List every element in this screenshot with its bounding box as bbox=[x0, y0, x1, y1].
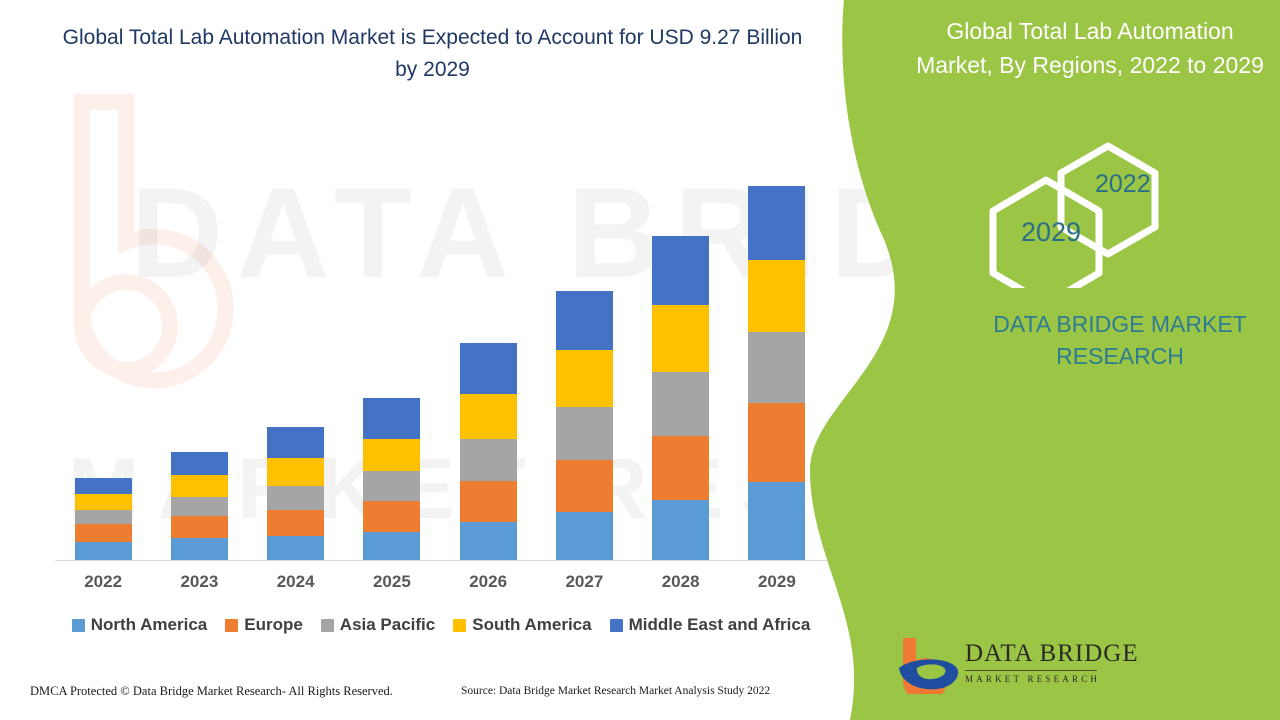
bar-segment bbox=[652, 372, 709, 436]
legend-label: North America bbox=[91, 615, 208, 635]
legend-label: Middle East and Africa bbox=[629, 615, 811, 635]
x-axis-label-2025: 2025 bbox=[344, 572, 440, 592]
stacked-bar-2029[interactable] bbox=[748, 186, 805, 560]
bar-segment bbox=[267, 536, 324, 560]
bar-segment bbox=[748, 482, 805, 560]
bar-segment bbox=[171, 497, 228, 516]
footer-copyright: DMCA Protected © Data Bridge Market Rese… bbox=[30, 684, 393, 699]
bar-segment bbox=[460, 343, 517, 394]
bar-segment bbox=[75, 542, 132, 560]
x-axis-label-2022: 2022 bbox=[55, 572, 151, 592]
bar-slot bbox=[440, 120, 536, 560]
bar-segment bbox=[652, 500, 709, 560]
legend-item[interactable]: Middle East and Africa bbox=[610, 615, 811, 635]
bar-segment bbox=[75, 478, 132, 494]
legend-label: Asia Pacific bbox=[340, 615, 435, 635]
stacked-bar-2022[interactable] bbox=[75, 478, 132, 560]
bar-segment bbox=[171, 516, 228, 538]
bar-segment bbox=[652, 236, 709, 305]
x-axis-label-2029: 2029 bbox=[729, 572, 825, 592]
bar-segment bbox=[363, 439, 420, 471]
hexagon-label-2022: 2022 bbox=[1095, 170, 1151, 199]
legend-label: South America bbox=[472, 615, 591, 635]
stacked-bar-2027[interactable] bbox=[556, 291, 613, 560]
bar-segment bbox=[267, 510, 324, 536]
bar-segment bbox=[171, 452, 228, 475]
x-axis-label-2023: 2023 bbox=[151, 572, 247, 592]
bar-segment bbox=[556, 460, 613, 512]
bar-slot bbox=[248, 120, 344, 560]
x-axis-label-2024: 2024 bbox=[248, 572, 344, 592]
bar-segment bbox=[748, 186, 805, 260]
bar-segment bbox=[267, 458, 324, 486]
bar-segment bbox=[556, 350, 613, 407]
bar-segment bbox=[556, 291, 613, 350]
chart-title: Global Total Lab Automation Market is Ex… bbox=[60, 22, 805, 86]
bar-segment bbox=[75, 524, 132, 542]
hexagon-label-2029: 2029 bbox=[1021, 217, 1081, 248]
bar-segment bbox=[363, 501, 420, 532]
hexagon-badges bbox=[980, 138, 1190, 288]
panel-title: Global Total Lab Automation Market, By R… bbox=[910, 14, 1270, 82]
legend-swatch-icon bbox=[225, 619, 238, 632]
stacked-bar-2024[interactable] bbox=[267, 427, 324, 560]
stacked-bar-2026[interactable] bbox=[460, 343, 517, 560]
hexagon-outline-icon bbox=[980, 138, 1190, 288]
bar-segment bbox=[75, 494, 132, 510]
bar-segment bbox=[363, 532, 420, 560]
bar-segment bbox=[460, 522, 517, 560]
x-axis-label-2026: 2026 bbox=[440, 572, 536, 592]
bar-segment bbox=[556, 407, 613, 460]
logo-title: DATA BRIDGE bbox=[965, 640, 1139, 668]
bar-segment bbox=[460, 439, 517, 481]
legend-item[interactable]: Europe bbox=[225, 615, 303, 635]
bar-slot bbox=[55, 120, 151, 560]
stacked-bar-2028[interactable] bbox=[652, 236, 709, 560]
brand-name-panel: DATA BRIDGE MARKET RESEARCH bbox=[960, 308, 1280, 372]
logo-subtitle: MARKET RESEARCH bbox=[965, 674, 1139, 684]
chart-baseline-axis bbox=[55, 560, 827, 561]
legend-item[interactable]: North America bbox=[72, 615, 208, 635]
legend-swatch-icon bbox=[72, 619, 85, 632]
footer-source: Source: Data Bridge Market Research Mark… bbox=[461, 685, 770, 697]
bar-slot bbox=[633, 120, 729, 560]
bar-slot bbox=[729, 120, 825, 560]
bar-segment bbox=[460, 481, 517, 522]
legend-swatch-icon bbox=[610, 619, 623, 632]
bar-slot bbox=[344, 120, 440, 560]
x-axis-labels: 20222023202420252026202720282029 bbox=[55, 572, 825, 592]
x-axis-label-2027: 2027 bbox=[536, 572, 632, 592]
bar-segment bbox=[748, 403, 805, 482]
bar-segment bbox=[75, 510, 132, 524]
bar-segment bbox=[652, 436, 709, 500]
legend-item[interactable]: South America bbox=[453, 615, 591, 635]
bar-segment bbox=[363, 471, 420, 501]
bar-segment bbox=[748, 332, 805, 403]
stacked-bar-2025[interactable] bbox=[363, 398, 420, 560]
chart-legend: North AmericaEuropeAsia PacificSouth Ame… bbox=[55, 615, 827, 635]
logo-text-block: DATA BRIDGE MARKET RESEARCH bbox=[965, 640, 1139, 684]
x-axis-label-2028: 2028 bbox=[633, 572, 729, 592]
infographic-canvas: DATA BRIDGE MARKET RESEARCH Global Total… bbox=[0, 0, 1280, 720]
legend-swatch-icon bbox=[453, 619, 466, 632]
legend-label: Europe bbox=[244, 615, 303, 635]
bar-segment bbox=[171, 538, 228, 560]
bar-segment bbox=[652, 305, 709, 372]
legend-item[interactable]: Asia Pacific bbox=[321, 615, 435, 635]
bar-segment bbox=[460, 394, 517, 439]
bar-segment bbox=[267, 427, 324, 458]
bar-slot bbox=[536, 120, 632, 560]
legend-swatch-icon bbox=[321, 619, 334, 632]
bar-slot bbox=[151, 120, 247, 560]
bar-segment bbox=[267, 486, 324, 510]
bar-segment bbox=[171, 475, 228, 497]
stacked-bar-2023[interactable] bbox=[171, 452, 228, 560]
bar-segment bbox=[556, 512, 613, 560]
logo-divider bbox=[965, 670, 1097, 671]
bar-segment bbox=[363, 398, 420, 439]
bar-segment bbox=[748, 260, 805, 332]
stacked-bar-series bbox=[55, 120, 825, 560]
